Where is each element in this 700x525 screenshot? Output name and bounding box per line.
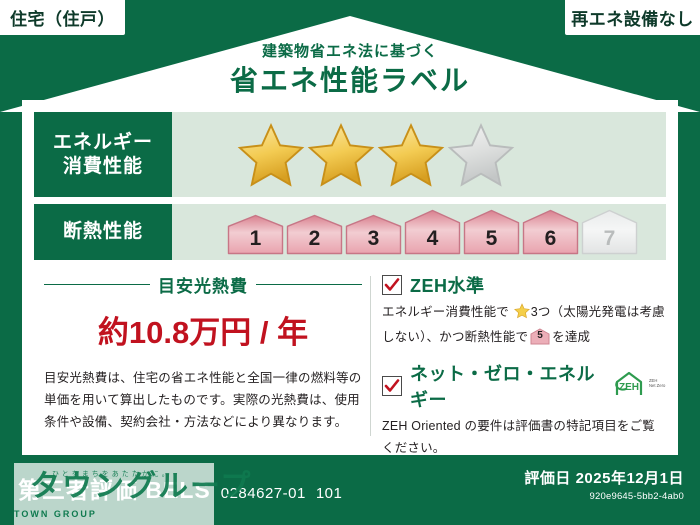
zeh-standard-title: ZEH水準 [410, 272, 485, 298]
label-card: エネルギー 消費性能 断熱性能 1234567 目安光熱費 約10.8万円 / … [22, 100, 678, 455]
star-icon [514, 303, 530, 319]
insulation-performance-label: 断熱性能 [34, 204, 172, 260]
insulation-level-number: 6 [522, 227, 579, 251]
net-zero-energy-desc: ZEH Oriented の要件は評価書の特記項目をご覧ください。 [382, 416, 666, 459]
insulation-scale: 1234567 [227, 209, 638, 255]
insulation-level-number: 5 [463, 227, 520, 251]
zeh-standard-desc: エネルギー消費性能で 3つ（太陽光発電は考慮しない）、かつ断熱性能で 5 を達成 [382, 302, 666, 348]
energy-label-line2: 消費性能 [63, 155, 143, 179]
renewable-equipment-tag: 再エネ設備なし [565, 0, 700, 35]
energy-consumption-value [172, 112, 666, 197]
utility-cost-column: 目安光熱費 約10.8万円 / 年 目安光熱費は、住宅の省エネ性能と全国一律の燃… [44, 272, 362, 442]
energy-performance-label: 建築物省エネ法に基づく 省エネ性能ラベル 住宅（住戸） 再エネ設備なし エネルギ… [0, 0, 700, 525]
evaluation-date: 評価日 2025年12月1日 [524, 467, 684, 488]
star-rating [237, 122, 515, 188]
energy-consumption-label: エネルギー 消費性能 [34, 112, 172, 197]
zeh-desc-before-star: エネルギー消費性能で [382, 305, 509, 319]
label-header: 建築物省エネ法に基づく 省エネ性能ラベル [0, 44, 700, 98]
utility-cost-amount: 約10.8万円 / 年 [44, 307, 362, 352]
check-icon [384, 378, 400, 394]
star-filled-icon [377, 122, 445, 188]
insulation-level-number: 2 [286, 227, 343, 251]
inline-star-icon [514, 303, 530, 327]
heading-rule-left [44, 284, 150, 285]
evaluation-number: 0284627-01 [221, 485, 306, 502]
inline-house-badge: 5 [530, 328, 550, 345]
label-footer: 第三者評価 BELS 0284627-01 101 評価日 2025年12月1日… [0, 455, 700, 525]
zeh-logo-icon: ZEH ZEH Net Zero [612, 371, 666, 402]
insulation-level-house: 7 [581, 209, 638, 255]
zeh-standard-item: ZEH水準 エネルギー消費性能で 3つ（太陽光発電は考慮しない）、かつ断熱性能で… [382, 272, 666, 348]
building-type-tag: 住宅（住戸） [0, 0, 125, 35]
utility-cost-heading-text: 目安光熱費 [158, 272, 248, 297]
evaluation-date-value: 2025年12月1日 [576, 470, 684, 487]
zeh-house-logo-icon: ZEH ZEH Net Zero [612, 371, 666, 397]
insulation-level-house: 6 [522, 209, 579, 255]
column-divider [370, 276, 371, 436]
footer-right-group: 評価日 2025年12月1日 920e9645-5bb2-4ab0 [524, 467, 684, 502]
insulation-level-house: 5 [463, 209, 520, 255]
net-zero-energy-item: ネット・ゼロ・エネルギー ZEH ZEH Net Zero ZEH Orient… [382, 360, 666, 459]
footer-left-group: 第三者評価 BELS 0284627-01 101 [18, 471, 342, 505]
check-icon [384, 277, 400, 293]
zeh-standard-checkbox[interactable] [382, 275, 402, 295]
inline-house-number: 5 [530, 327, 550, 344]
bels-evaluation-text: 第三者評価 BELS [18, 471, 211, 505]
header-subtitle: 建築物省エネ法に基づく [0, 44, 700, 61]
net-zero-energy-head: ネット・ゼロ・エネルギー ZEH ZEH Net Zero [382, 360, 666, 412]
net-zero-energy-checkbox[interactable] [382, 376, 402, 396]
insulation-level-number: 3 [345, 227, 402, 251]
star-empty-icon [447, 122, 515, 188]
zeh-column: ZEH水準 エネルギー消費性能で 3つ（太陽光発電は考慮しない）、かつ断熱性能で… [382, 272, 666, 442]
svg-text:Net Zero: Net Zero [649, 383, 666, 388]
insulation-performance-row: 断熱性能 1234567 [34, 204, 666, 260]
insulation-level-house: 4 [404, 209, 461, 255]
insulation-level-house: 3 [345, 214, 402, 255]
utility-cost-heading: 目安光熱費 [44, 272, 362, 297]
zeh-standard-head: ZEH水準 [382, 272, 666, 298]
net-zero-energy-title: ネット・ゼロ・エネルギー [410, 360, 602, 412]
insulation-level-house: 2 [286, 214, 343, 255]
header-title: 省エネ性能ラベル [0, 63, 700, 98]
star-filled-icon [237, 122, 305, 188]
insulation-level-house: 1 [227, 214, 284, 255]
zeh-desc-tail: を達成 [552, 330, 590, 344]
energy-label-line1: エネルギー [53, 131, 153, 155]
insulation-level-number: 7 [581, 227, 638, 251]
utility-cost-note: 目安光熱費は、住宅の省エネ性能と全国一律の燃料等の単価を用いて算出したものです。… [44, 368, 362, 434]
star-filled-icon [307, 122, 375, 188]
insulation-level-number: 1 [227, 227, 284, 251]
evaluation-date-label: 評価日 [524, 470, 571, 487]
heading-rule-right [256, 284, 362, 285]
evaluation-hash: 920e9645-5bb2-4ab0 [524, 491, 684, 502]
svg-text:ZEH: ZEH [619, 382, 639, 393]
insulation-level-number: 4 [404, 227, 461, 251]
unit-number: 101 [316, 485, 343, 502]
insulation-performance-value: 1234567 [172, 204, 666, 260]
energy-consumption-row: エネルギー 消費性能 [34, 112, 666, 197]
